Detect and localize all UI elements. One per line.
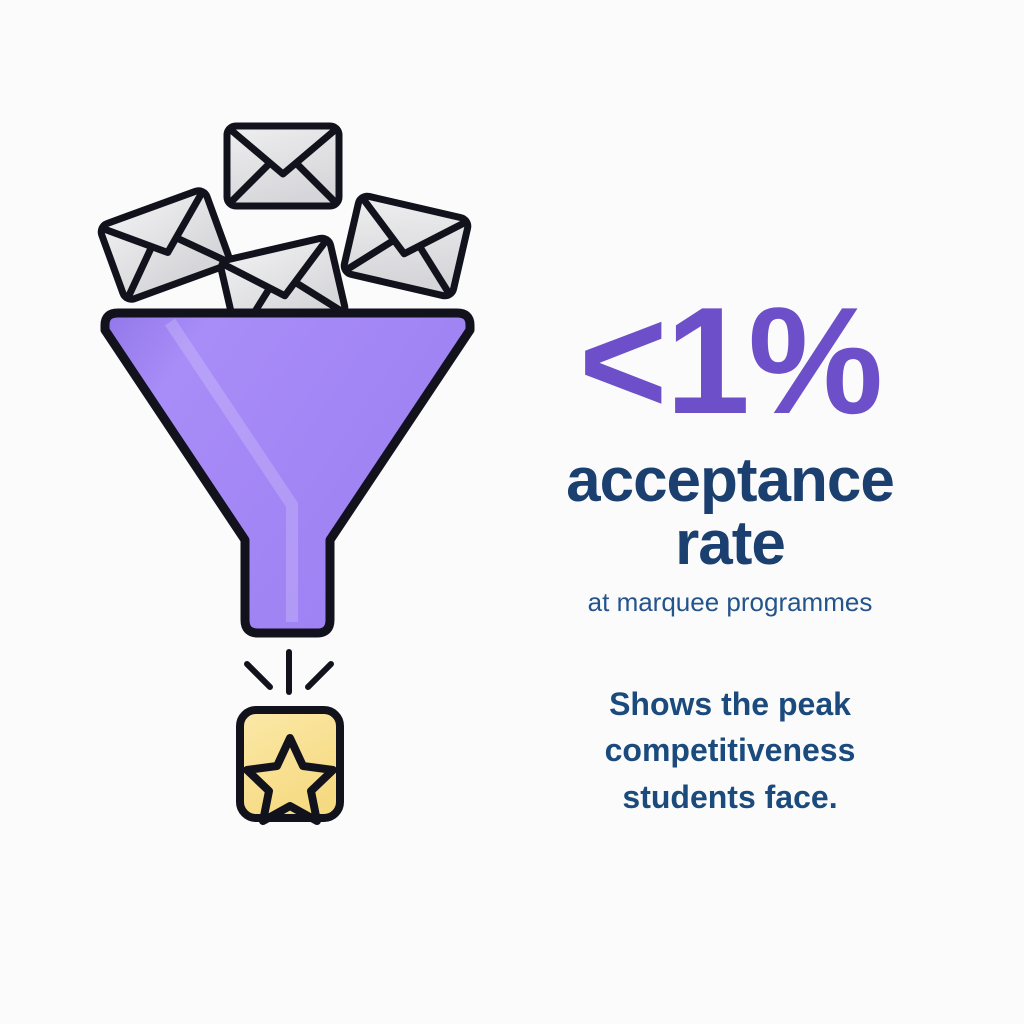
stat-value: <1% xyxy=(500,290,960,433)
body-line-1: Shows the peak xyxy=(500,681,960,728)
funnel-shape xyxy=(105,313,470,633)
stat-label-line-1: acceptance xyxy=(500,449,960,512)
stat-label: acceptance rate xyxy=(500,449,960,575)
body-line-2: competitiveness xyxy=(500,727,960,774)
infographic-canvas: <1% acceptance rate at marquee programme… xyxy=(0,0,1024,1024)
envelope-top xyxy=(227,126,339,206)
envelope-right xyxy=(342,194,469,297)
sparkle-lines xyxy=(247,652,331,692)
application-funnel-illustration xyxy=(0,0,512,1024)
body-line-3: students face. xyxy=(500,774,960,821)
star-award-card xyxy=(240,710,340,821)
body-description: Shows the peak competitiveness students … xyxy=(500,681,960,821)
stat-label-line-2: rate xyxy=(500,512,960,575)
envelope-left xyxy=(99,188,232,301)
stat-subtitle: at marquee programmes xyxy=(500,587,960,618)
stat-text-column: <1% acceptance rate at marquee programme… xyxy=(500,290,960,821)
